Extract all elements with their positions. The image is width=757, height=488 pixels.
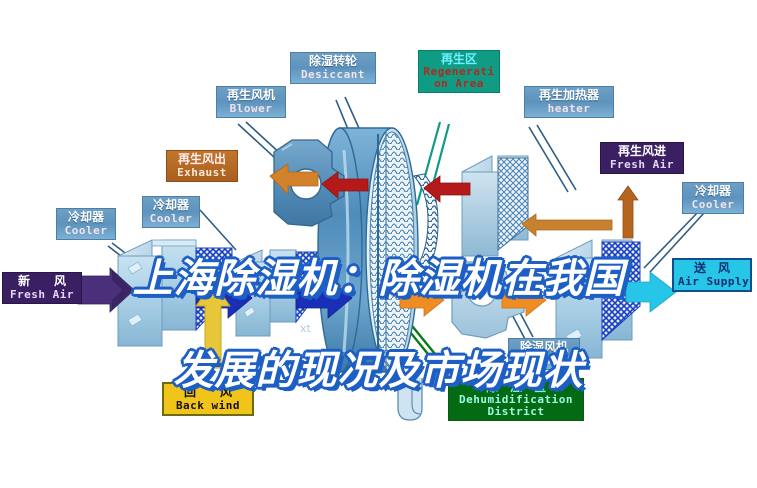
label-air-supply[interactable]: 送 风 Air Supply [672,258,752,292]
label-en: heater [529,103,609,115]
schematic-artwork: xt [0,0,757,488]
label-dehumidification-district[interactable]: 除 湿 区 Dehumidification District [448,378,584,421]
diagram-canvas: xt [0,0,757,488]
label-regeneration-heater[interactable]: 再生加热器 heater [524,86,614,118]
label-cooler-left-upper[interactable]: 冷却器 Cooler [56,208,116,240]
label-en: Cooler [61,225,111,237]
label-back-wind[interactable]: 回 风 Back wind [162,382,254,416]
label-fresh-air-in[interactable]: 新 风 Fresh Air [2,272,82,304]
label-cn: 除湿风机 [513,341,575,354]
label-en-line1: Dehumidification [453,394,579,405]
label-dehumidification-blower[interactable]: 除湿风机 Blower [508,338,580,370]
label-en: Blower [221,103,281,115]
label-cn: 再生风出 [171,153,233,166]
label-cooler-left-lower[interactable]: 冷却器 Cooler [142,196,200,228]
label-cn: 除湿转轮 [295,55,371,68]
label-cn: 回 风 [168,386,248,399]
label-cn: 再生风机 [221,89,281,102]
label-en: Cooler [147,213,195,225]
label-en: Fresh Air [605,159,679,171]
label-en: Air Supply [678,276,746,288]
label-regeneration-blower[interactable]: 再生风机 Blower [216,86,286,118]
label-regeneration-fresh-air-in[interactable]: 再生风进 Fresh Air [600,142,684,174]
label-en-line1: Regenerati [423,66,495,77]
label-en-line2: on Area [423,78,495,89]
label-en: Fresh Air [7,289,77,301]
label-cooler-right[interactable]: 冷却器 Cooler [682,182,744,214]
label-en-line2: District [453,406,579,417]
label-cn: 冷却器 [687,185,739,198]
label-en: Exhaust [171,167,233,179]
label-en: Desiccant [295,69,371,81]
label-cn: 再生加热器 [529,89,609,102]
label-regeneration-area[interactable]: 再生区 Regenerati on Area [418,50,500,93]
regeneration-heater-coil [462,156,528,256]
label-cn: 新 风 [7,275,77,288]
svg-text:xt: xt [300,322,312,335]
label-cn: 送 风 [678,262,746,275]
label-en: Back wind [168,400,248,412]
regen-fresh-air-arrow [522,214,612,236]
label-cn: 冷却器 [61,211,111,224]
regen-fresh-air-up-arrow [618,186,638,238]
label-en: Blower [513,355,575,367]
drain-pan [398,378,422,420]
label-cn: 再生风进 [605,145,679,158]
label-exhaust[interactable]: 再生风出 Exhaust [166,150,238,182]
label-cn: 再生区 [423,53,495,65]
label-cn: 冷却器 [147,199,195,212]
label-cn: 除 湿 区 [453,381,579,393]
label-desiccant-wheel[interactable]: 除湿转轮 Desiccant [290,52,376,84]
label-en: Cooler [687,199,739,211]
